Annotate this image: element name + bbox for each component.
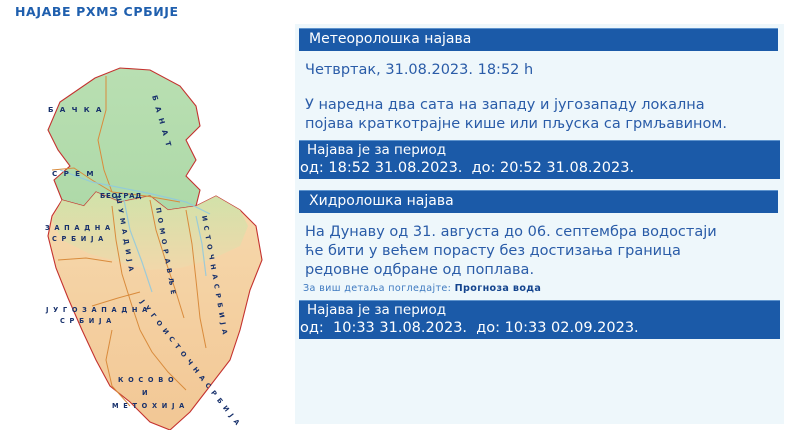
meteo-heading: Метеоролошка најава bbox=[299, 28, 778, 51]
hydro-period-range: од: 10:33 31.08.2023. до: 10:33 02.09.20… bbox=[299, 319, 780, 337]
meteo-timestamp: Четвртак, 31.08.2023. 18:52 h bbox=[305, 61, 776, 80]
hydro-detail-line: За виш детаља погледајте: Прогноза вода bbox=[295, 280, 784, 294]
map-label-metohija: М Е Т О Х И Ј А bbox=[112, 402, 185, 410]
meteo-period-range: од: 18:52 31.08.2023. до: 20:52 31.08.20… bbox=[299, 159, 780, 177]
map-label-srem: С Р Е М bbox=[52, 169, 95, 178]
announcements-panel: Метеоролошка најава Четвртак, 31.08.2023… bbox=[295, 24, 784, 424]
meteo-period-title: Најава је за период bbox=[299, 142, 780, 159]
hydro-body-line2: ће бити у већем порасту без достизања гр… bbox=[305, 243, 681, 259]
hydro-heading: Хидролошка најава bbox=[299, 190, 778, 213]
map-label-jugozapadna-srbija-2: С Р Б И Ј А bbox=[60, 317, 112, 325]
serbia-map-panel[interactable]: Б А Ч К А Б А Н А Т С Р Е М БЕОГРАД З А … bbox=[0, 30, 290, 430]
hydro-period-bar: Најава је за период од: 10:33 31.08.2023… bbox=[299, 300, 780, 339]
serbia-map-svg[interactable]: Б А Ч К А Б А Н А Т С Р Е М БЕОГРАД З А … bbox=[0, 30, 290, 430]
meteo-body: Четвртак, 31.08.2023. 18:52 h У наредна … bbox=[295, 51, 784, 134]
hydro-period-title: Најава је за период bbox=[299, 302, 780, 319]
hydro-body: На Дунаву од 31. августа до 06. септембр… bbox=[295, 213, 784, 280]
map-label-kosovo: К О С О В О bbox=[118, 376, 175, 384]
map-label-zapadna-srbija: З А П А Д Н А bbox=[45, 224, 111, 232]
meteo-period-bar: Најава је за период од: 18:52 31.08.2023… bbox=[299, 140, 780, 179]
page-title: НАЈАВЕ РХМЗ СРБИЈЕ bbox=[15, 4, 179, 19]
map-label-jugozapadna-srbija: Ј У Г О З А П А Д Н А bbox=[45, 306, 148, 314]
hydro-body-line1: На Дунаву од 31. августа до 06. септембр… bbox=[305, 224, 717, 240]
hydro-body-line3: редовне одбране од поплава. bbox=[305, 262, 534, 278]
meteo-body-line2: појава краткотрајне кише или пљуска са г… bbox=[305, 116, 727, 132]
forecast-water-link[interactable]: Прогноза вода bbox=[455, 283, 542, 294]
map-label-kosovo-i: И bbox=[142, 389, 149, 397]
hydro-section: Хидролошка најава bbox=[295, 186, 784, 213]
meteo-body-line1: У наредна два сата на западу и југозапад… bbox=[305, 97, 705, 113]
section-spacer bbox=[295, 179, 784, 186]
map-label-zapadna-srbija-2: С Р Б И Ј А bbox=[52, 235, 104, 243]
hydro-detail-prefix: За виш детаља погледајте: bbox=[303, 283, 451, 294]
meteo-section: Метеоролошка најава bbox=[295, 24, 784, 51]
map-label-backa: Б А Ч К А bbox=[48, 105, 103, 114]
